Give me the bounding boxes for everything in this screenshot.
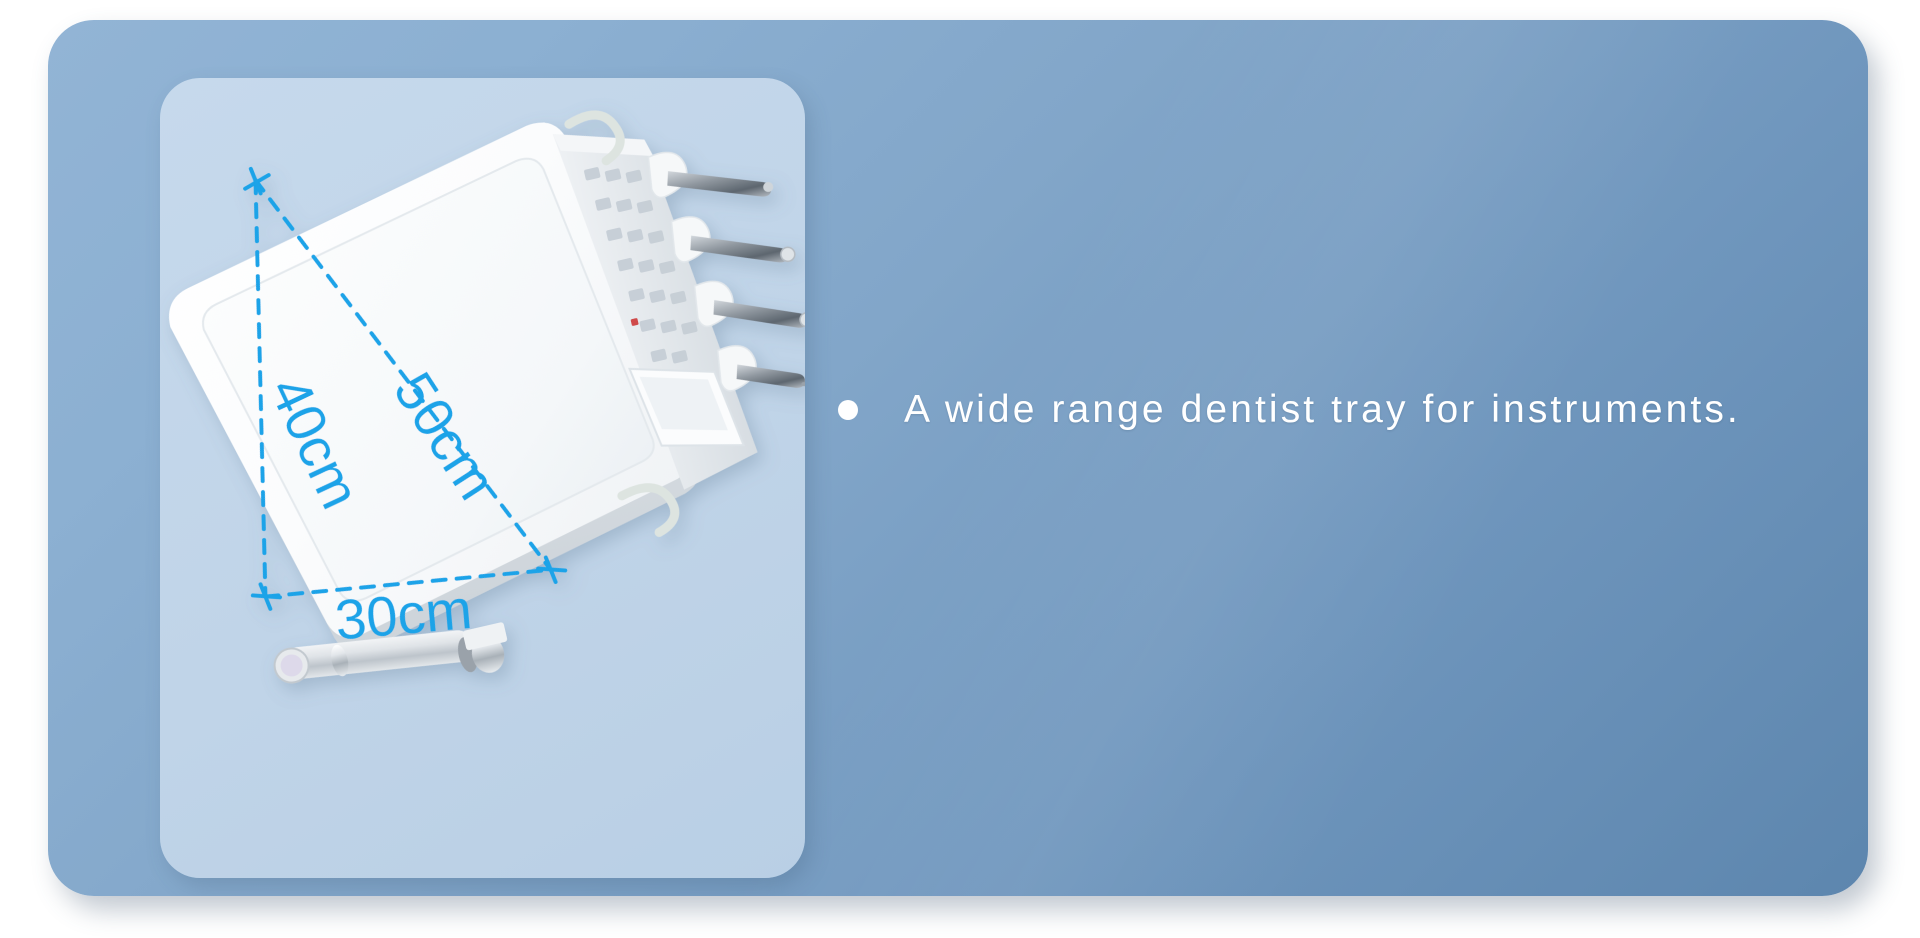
dentist-tray-illustration: 40cm 50cm 30cm xyxy=(160,78,805,878)
dimension-label-width: 30cm xyxy=(333,577,475,652)
slide-root: 40cm 50cm 30cm 40cm 50cm 30cm A wide ran… xyxy=(0,0,1920,938)
bullet-list-item: A wide range dentist tray for instrument… xyxy=(838,388,1868,433)
bullet-dot-icon xyxy=(838,400,858,420)
product-image-card: 40cm 50cm 30cm 40cm 50cm 30cm xyxy=(160,78,805,878)
bullet-item-text: A wide range dentist tray for instrument… xyxy=(904,388,1741,433)
content-panel: 40cm 50cm 30cm 40cm 50cm 30cm A wide ran… xyxy=(48,20,1868,896)
